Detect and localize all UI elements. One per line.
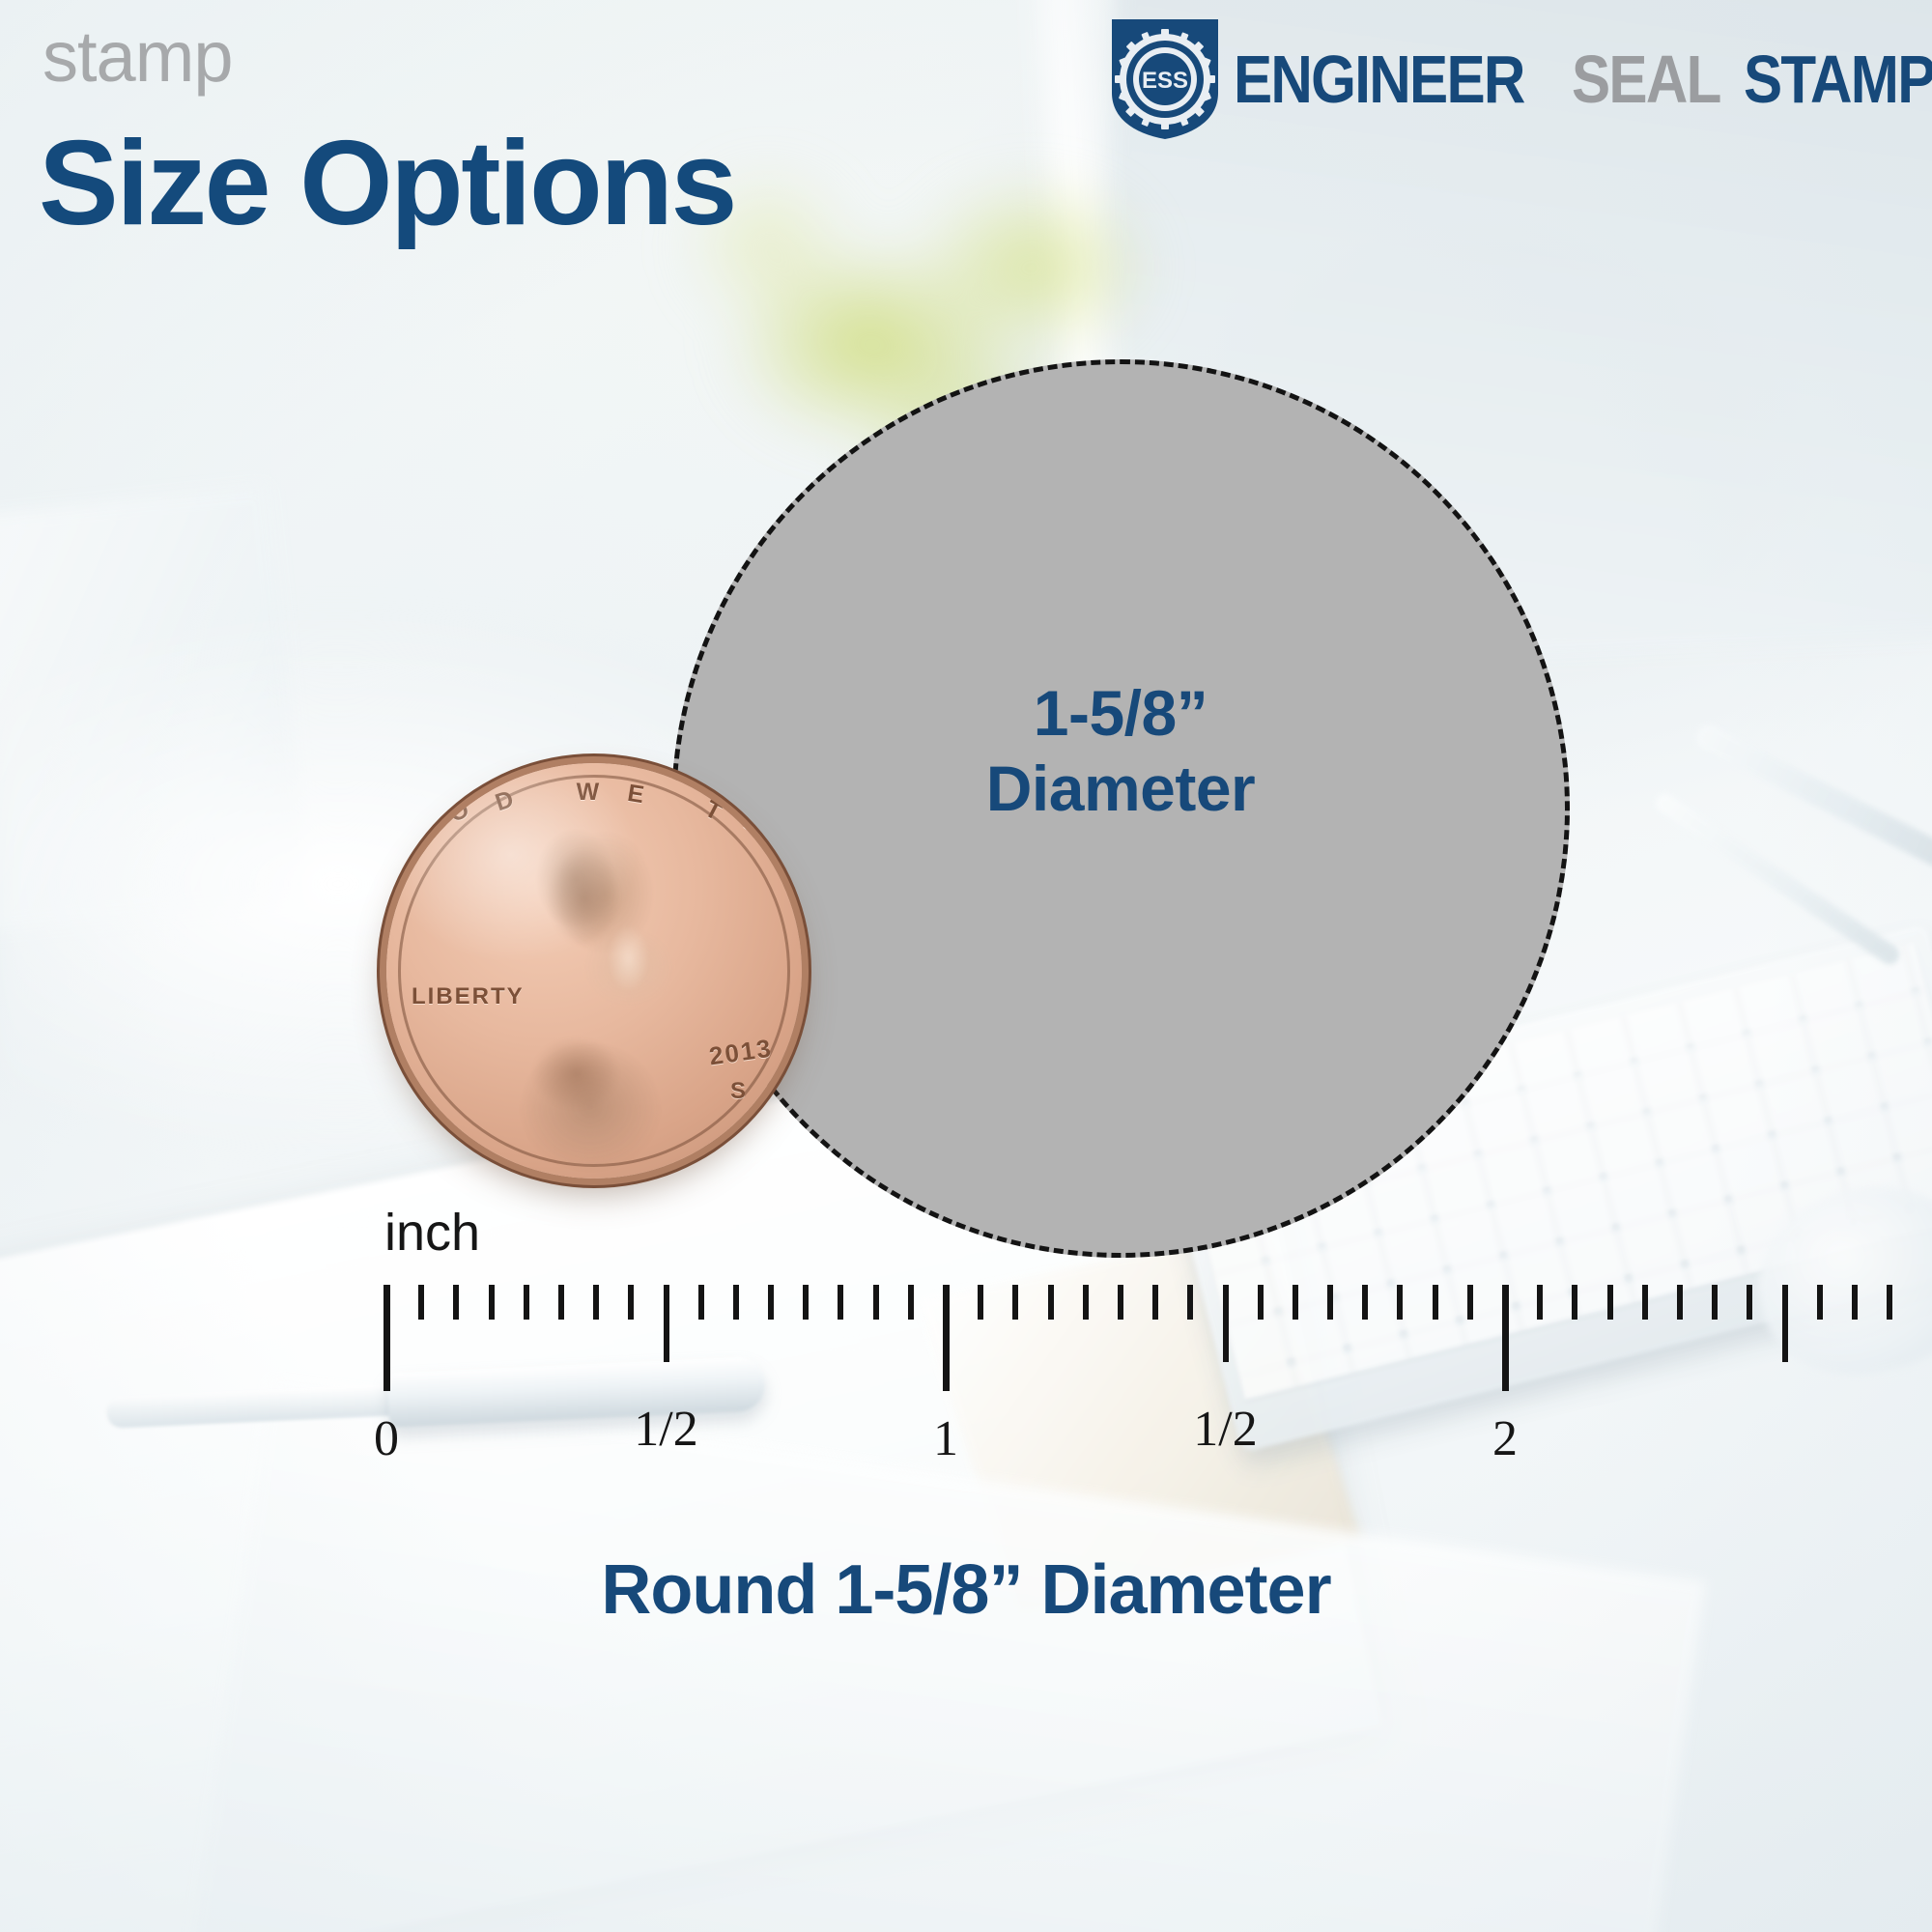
- ruler-tick-half: [664, 1285, 669, 1362]
- size-options-graphic: stamp Size Options ESS: [0, 0, 1932, 1932]
- ruler-tick-minor: [1152, 1285, 1158, 1320]
- ruler-tick-minor: [838, 1285, 843, 1320]
- ruler-tick-minor: [1747, 1285, 1752, 1320]
- ruler-tick-minor: [1677, 1285, 1683, 1320]
- ruler-tick-minor: [908, 1285, 914, 1320]
- logo-word-engineer: ENGINEER: [1234, 45, 1524, 113]
- ruler-tick-minor: [1887, 1285, 1892, 1320]
- logo-word-stamps: STAMPS: [1744, 45, 1932, 113]
- penny-liberty: LIBERTY: [412, 983, 525, 1010]
- ruler-label: 1: [933, 1410, 958, 1467]
- ruler-tick-half: [1782, 1285, 1788, 1362]
- ruler-tick-minor: [733, 1285, 739, 1320]
- ruler-tick-minor: [1467, 1285, 1473, 1320]
- ruler-tick-major: [1502, 1285, 1509, 1391]
- ruler-tick-minor: [1607, 1285, 1613, 1320]
- ruler-tick-minor: [1362, 1285, 1368, 1320]
- ruler-tick-minor: [628, 1285, 634, 1320]
- ruler-tick-minor: [1187, 1285, 1193, 1320]
- ruler-tick-minor: [1817, 1285, 1823, 1320]
- stamp-size-unit: Diameter: [671, 752, 1570, 827]
- ruler-unit-label: inch: [384, 1203, 480, 1263]
- logo-word-seal: SEAL: [1572, 45, 1720, 113]
- size-caption: Round 1-5/8” Diameter: [0, 1550, 1932, 1630]
- ruler-tick-minor: [524, 1285, 529, 1320]
- ruler-tick-minor: [1712, 1285, 1718, 1320]
- brand-word: stamp: [43, 21, 233, 93]
- ruler-tick-minor: [1327, 1285, 1333, 1320]
- company-logo[interactable]: ESS: [1108, 17, 1910, 141]
- ruler-tick-minor: [873, 1285, 879, 1320]
- ruler-tick-minor: [1048, 1285, 1054, 1320]
- inch-ruler: 01/211/22: [0, 1256, 1932, 1507]
- ruler-tick-minor: [698, 1285, 704, 1320]
- ruler-tick-minor: [803, 1285, 809, 1320]
- ruler-tick-minor: [453, 1285, 459, 1320]
- ruler-label: 1/2: [1193, 1401, 1257, 1458]
- ruler-tick-minor: [1537, 1285, 1543, 1320]
- ruler-tick-minor: [1572, 1285, 1577, 1320]
- ruler-tick-major: [384, 1285, 390, 1391]
- ruler-tick-minor: [1118, 1285, 1123, 1320]
- ruler-tick-minor: [1642, 1285, 1648, 1320]
- ruler-tick-minor: [1293, 1285, 1298, 1320]
- ruler-tick-minor: [1852, 1285, 1858, 1320]
- ruler-label: 1/2: [634, 1401, 697, 1458]
- ruler-tick-half: [1223, 1285, 1229, 1362]
- ruler-tick-minor: [1258, 1285, 1264, 1320]
- ruler-tick-minor: [978, 1285, 983, 1320]
- ruler-tick-minor: [1397, 1285, 1403, 1320]
- ruler-tick-minor: [489, 1285, 495, 1320]
- ess-shield-gear-icon: ESS: [1108, 17, 1222, 141]
- ruler-tick-minor: [1433, 1285, 1438, 1320]
- ruler-tick-minor: [1083, 1285, 1089, 1320]
- stamp-size-value: 1-5/8”: [1034, 677, 1207, 749]
- ruler-tick-minor: [558, 1285, 564, 1320]
- page-title: Size Options: [39, 124, 735, 243]
- ruler-tick-minor: [418, 1285, 424, 1320]
- stamp-size-label: 1-5/8” Diameter: [671, 676, 1570, 827]
- ruler-tick-minor: [768, 1285, 774, 1320]
- ruler-label: 2: [1492, 1410, 1518, 1467]
- svg-text:ESS: ESS: [1142, 68, 1188, 94]
- penny-profile-shading: [495, 823, 697, 1161]
- ruler-tick-minor: [593, 1285, 599, 1320]
- penny-mint-mark: S: [730, 1078, 748, 1105]
- ruler-label: 0: [374, 1410, 399, 1467]
- ruler-tick-minor: [1012, 1285, 1018, 1320]
- ruler-tick-major: [943, 1285, 950, 1391]
- logo-wordmark: ENGINEER SEAL STAMPS: [1234, 45, 1932, 113]
